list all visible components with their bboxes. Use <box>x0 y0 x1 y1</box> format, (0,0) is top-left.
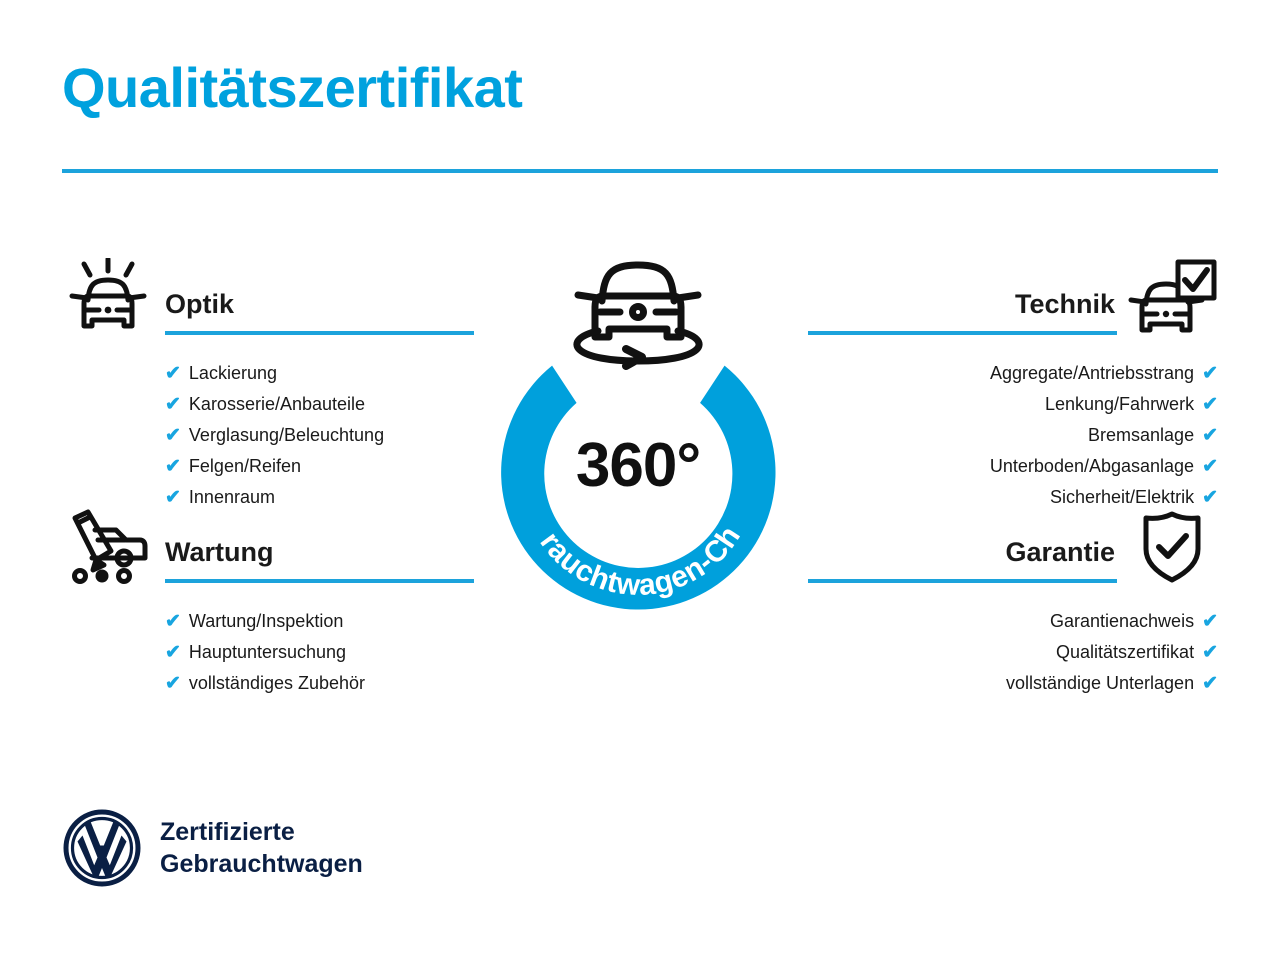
shield-check-icon <box>1126 506 1218 586</box>
car-service-pen-icon <box>62 506 154 586</box>
car-front-checkbox-icon <box>1126 258 1218 338</box>
check-icon: ✔ <box>165 607 181 637</box>
quality-certificate-page: Qualitätszertifikat <box>0 0 1280 960</box>
list-item: ✔Hauptuntersuchung <box>62 637 474 668</box>
check-icon: ✔ <box>1202 669 1218 699</box>
list-item-label: Qualitätszertifikat <box>1056 637 1194 667</box>
list-item: ✔Lackierung <box>62 358 474 389</box>
list-item: Bremsanlage✔ <box>800 420 1218 451</box>
section-wartung-title: Wartung <box>165 537 273 568</box>
list-item-label: Unterboden/Abgasanlage <box>990 451 1194 481</box>
check-icon: ✔ <box>165 638 181 668</box>
section-technik-title: Technik <box>1015 289 1115 320</box>
page-title: Qualitätszertifikat <box>62 57 522 119</box>
list-item-label: vollständiges Zubehör <box>189 668 365 698</box>
check-icon: ✔ <box>1202 421 1218 451</box>
section-garantie: Garantie Garantienachweis✔ Qualitätszert… <box>800 506 1218 699</box>
section-optik-header: Optik <box>62 258 474 346</box>
section-garantie-list: Garantienachweis✔ Qualitätszertifikat✔ v… <box>800 606 1218 699</box>
check-icon: ✔ <box>1202 452 1218 482</box>
car-front-shine-icon <box>62 258 154 338</box>
section-wartung: Wartung ✔Wartung/Inspektion ✔Hauptunters… <box>62 506 474 699</box>
section-optik-title: Optik <box>165 289 234 320</box>
check-icon: ✔ <box>1202 638 1218 668</box>
list-item-label: Garantienachweis <box>1050 606 1194 636</box>
volkswagen-logo-icon <box>62 808 142 888</box>
section-wartung-header: Wartung <box>62 506 474 594</box>
list-item-label: Felgen/Reifen <box>189 451 301 481</box>
section-wartung-list: ✔Wartung/Inspektion ✔Hauptuntersuchung ✔… <box>62 606 474 699</box>
check-icon: ✔ <box>165 669 181 699</box>
section-optik-list: ✔Lackierung ✔Karosserie/Anbauteile ✔Verg… <box>62 358 474 513</box>
list-item-label: Wartung/Inspektion <box>189 606 343 636</box>
footer-brand-text: Zertifizierte Gebrauchtwagen <box>160 816 363 880</box>
list-item: Garantienachweis✔ <box>800 606 1218 637</box>
list-item: Unterboden/Abgasanlage✔ <box>800 451 1218 482</box>
section-wartung-divider <box>165 579 474 583</box>
list-item: ✔vollständiges Zubehör <box>62 668 474 699</box>
list-item-label: vollständige Unterlagen <box>1006 668 1194 698</box>
list-item: Lenkung/Fahrwerk✔ <box>800 389 1218 420</box>
list-item-label: Karosserie/Anbauteile <box>189 389 365 419</box>
section-garantie-divider <box>808 579 1117 583</box>
check-icon: ✔ <box>165 452 181 482</box>
list-item: ✔Wartung/Inspektion <box>62 606 474 637</box>
list-item: vollständige Unterlagen✔ <box>800 668 1218 699</box>
list-item: ✔Verglasung/Beleuchtung <box>62 420 474 451</box>
check-icon: ✔ <box>165 421 181 451</box>
section-optik-divider <box>165 331 474 335</box>
list-item-label: Verglasung/Beleuchtung <box>189 420 384 450</box>
footer-brand: Zertifizierte Gebrauchtwagen <box>62 808 363 888</box>
check-icon: ✔ <box>165 359 181 389</box>
list-item-label: Bremsanlage <box>1088 420 1194 450</box>
check-icon: ✔ <box>1202 390 1218 420</box>
list-item: Qualitätszertifikat✔ <box>800 637 1218 668</box>
check-icon: ✔ <box>165 390 181 420</box>
list-item-label: Lenkung/Fahrwerk <box>1045 389 1194 419</box>
list-item-label: Aggregate/Antriebsstrang <box>990 358 1194 388</box>
section-technik-list: Aggregate/Antriebsstrang✔ Lenkung/Fahrwe… <box>800 358 1218 513</box>
section-technik: Technik Aggregate/Antriebsstrang✔ Lenkun… <box>800 258 1218 513</box>
badge-360-gebrauchtwagen-check: Gebrauchtwagen-Check 360° <box>458 285 818 645</box>
list-item: Aggregate/Antriebsstrang✔ <box>800 358 1218 389</box>
list-item: ✔Felgen/Reifen <box>62 451 474 482</box>
section-technik-divider <box>808 331 1117 335</box>
section-garantie-title: Garantie <box>1005 537 1115 568</box>
car-rotate-360-icon <box>562 249 714 369</box>
list-item: ✔Karosserie/Anbauteile <box>62 389 474 420</box>
list-item-label: Hauptuntersuchung <box>189 637 346 667</box>
title-divider <box>62 169 1218 173</box>
check-icon: ✔ <box>1202 359 1218 389</box>
list-item-label: Lackierung <box>189 358 277 388</box>
section-garantie-header: Garantie <box>800 506 1218 594</box>
section-optik: Optik ✔Lackierung ✔Karosserie/Anbauteile… <box>62 258 474 513</box>
section-technik-header: Technik <box>800 258 1218 346</box>
check-icon: ✔ <box>1202 607 1218 637</box>
